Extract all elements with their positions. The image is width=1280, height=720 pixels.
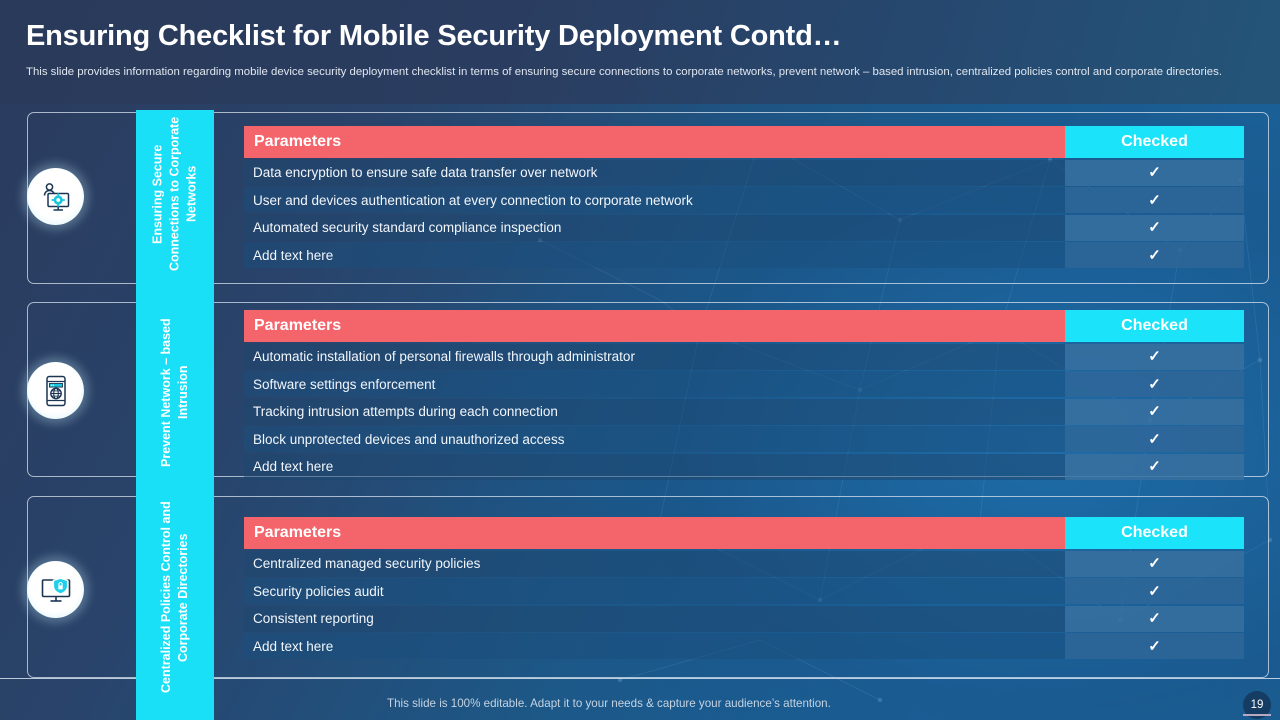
table-row[interactable]: Security policies audit ✓	[244, 578, 1244, 604]
row-checked-cell[interactable]: ✓	[1065, 399, 1244, 425]
checklist-table-3: Parameters Checked Centralized managed s…	[244, 517, 1244, 659]
row-checked-cell[interactable]: ✓	[1065, 160, 1244, 186]
row-parameter: Security policies audit	[244, 578, 1065, 604]
table-header-row: Parameters Checked	[244, 310, 1244, 342]
table-row[interactable]: Consistent reporting ✓	[244, 606, 1244, 632]
column-header-parameters: Parameters	[244, 517, 1065, 549]
table-row[interactable]: Tracking intrusion attempts during each …	[244, 399, 1244, 425]
check-icon: ✓	[1148, 165, 1161, 180]
row-checked-cell[interactable]: ✓	[1065, 633, 1244, 659]
check-icon: ✓	[1148, 584, 1161, 599]
row-parameter: Add text here	[244, 242, 1065, 268]
check-icon: ✓	[1148, 349, 1161, 364]
row-checked-cell[interactable]: ✓	[1065, 578, 1244, 604]
footer-note: This slide is 100% editable. Adapt it to…	[387, 697, 831, 710]
row-parameter: Centralized managed security policies	[244, 551, 1065, 577]
check-icon: ✓	[1148, 639, 1161, 654]
checklist-table-2: Parameters Checked Automatic installatio…	[244, 310, 1244, 480]
row-parameter: Tracking intrusion attempts during each …	[244, 399, 1065, 425]
checklist-table-1: Parameters Checked Data encryption to en…	[244, 126, 1244, 268]
section-label-strip: Ensuring Secure Connections to Corporate…	[136, 110, 214, 720]
column-header-checked: Checked	[1065, 517, 1244, 549]
row-checked-cell[interactable]: ✓	[1065, 242, 1244, 268]
check-icon: ✓	[1148, 556, 1161, 571]
table-row[interactable]: Automatic installation of personal firew…	[244, 344, 1244, 370]
check-icon: ✓	[1148, 193, 1161, 208]
mobile-browser-globe-icon	[27, 362, 84, 419]
row-checked-cell[interactable]: ✓	[1065, 371, 1244, 397]
table-header-row: Parameters Checked	[244, 517, 1244, 549]
monitor-shield-lock-icon	[27, 561, 84, 618]
user-monitor-gear-icon	[27, 168, 84, 225]
row-checked-cell[interactable]: ✓	[1065, 426, 1244, 452]
table-row[interactable]: Add text here ✓	[244, 242, 1244, 268]
row-checked-cell[interactable]: ✓	[1065, 215, 1244, 241]
column-header-parameters: Parameters	[244, 310, 1065, 342]
page-subtitle: This slide provides information regardin…	[26, 64, 1222, 81]
row-parameter: Data encryption to ensure safe data tran…	[244, 160, 1065, 186]
row-parameter: Consistent reporting	[244, 606, 1065, 632]
table-row[interactable]: Software settings enforcement ✓	[244, 371, 1244, 397]
column-header-checked: Checked	[1065, 126, 1244, 158]
row-checked-cell[interactable]: ✓	[1065, 551, 1244, 577]
table-row[interactable]: Add text here ✓	[244, 454, 1244, 480]
table-row[interactable]: Automated security standard compliance i…	[244, 215, 1244, 241]
table-row[interactable]: Block unprotected devices and unauthoriz…	[244, 426, 1244, 452]
check-icon: ✓	[1148, 404, 1161, 419]
row-parameter: Block unprotected devices and unauthoriz…	[244, 426, 1065, 452]
strip-label-prevent-network-intrusion: Prevent Network – based Intrusion	[136, 305, 214, 480]
row-parameter: Automated security standard compliance i…	[244, 215, 1065, 241]
check-icon: ✓	[1148, 220, 1161, 235]
column-header-parameters: Parameters	[244, 126, 1065, 158]
page-title: Ensuring Checklist for Mobile Security D…	[26, 20, 841, 53]
row-parameter: Software settings enforcement	[244, 371, 1065, 397]
page-number-underline	[1243, 714, 1271, 716]
row-checked-cell[interactable]: ✓	[1065, 454, 1244, 480]
row-checked-cell[interactable]: ✓	[1065, 344, 1244, 370]
row-parameter: Add text here	[244, 454, 1065, 480]
check-icon: ✓	[1148, 248, 1161, 263]
row-parameter: Automatic installation of personal firew…	[244, 344, 1065, 370]
table-row[interactable]: Centralized managed security policies ✓	[244, 551, 1244, 577]
table-row[interactable]: Data encryption to ensure safe data tran…	[244, 160, 1244, 186]
row-parameter: User and devices authentication at every…	[244, 187, 1065, 213]
slide-canvas: Ensuring Checklist for Mobile Security D…	[0, 0, 1280, 720]
row-checked-cell[interactable]: ✓	[1065, 606, 1244, 632]
column-header-checked: Checked	[1065, 310, 1244, 342]
row-parameter: Add text here	[244, 633, 1065, 659]
check-icon: ✓	[1148, 459, 1161, 474]
strip-label-centralized-policies: Centralized Policies Control and Corpora…	[136, 500, 214, 695]
table-header-row: Parameters Checked	[244, 126, 1244, 158]
row-checked-cell[interactable]: ✓	[1065, 187, 1244, 213]
check-icon: ✓	[1148, 377, 1161, 392]
table-row[interactable]: Add text here ✓	[244, 633, 1244, 659]
check-icon: ✓	[1148, 611, 1161, 626]
table-row[interactable]: User and devices authentication at every…	[244, 187, 1244, 213]
slide-header: Ensuring Checklist for Mobile Security D…	[0, 0, 1280, 104]
check-icon: ✓	[1148, 432, 1161, 447]
strip-label-ensuring-secure-connections: Ensuring Secure Connections to Corporate…	[136, 110, 214, 278]
